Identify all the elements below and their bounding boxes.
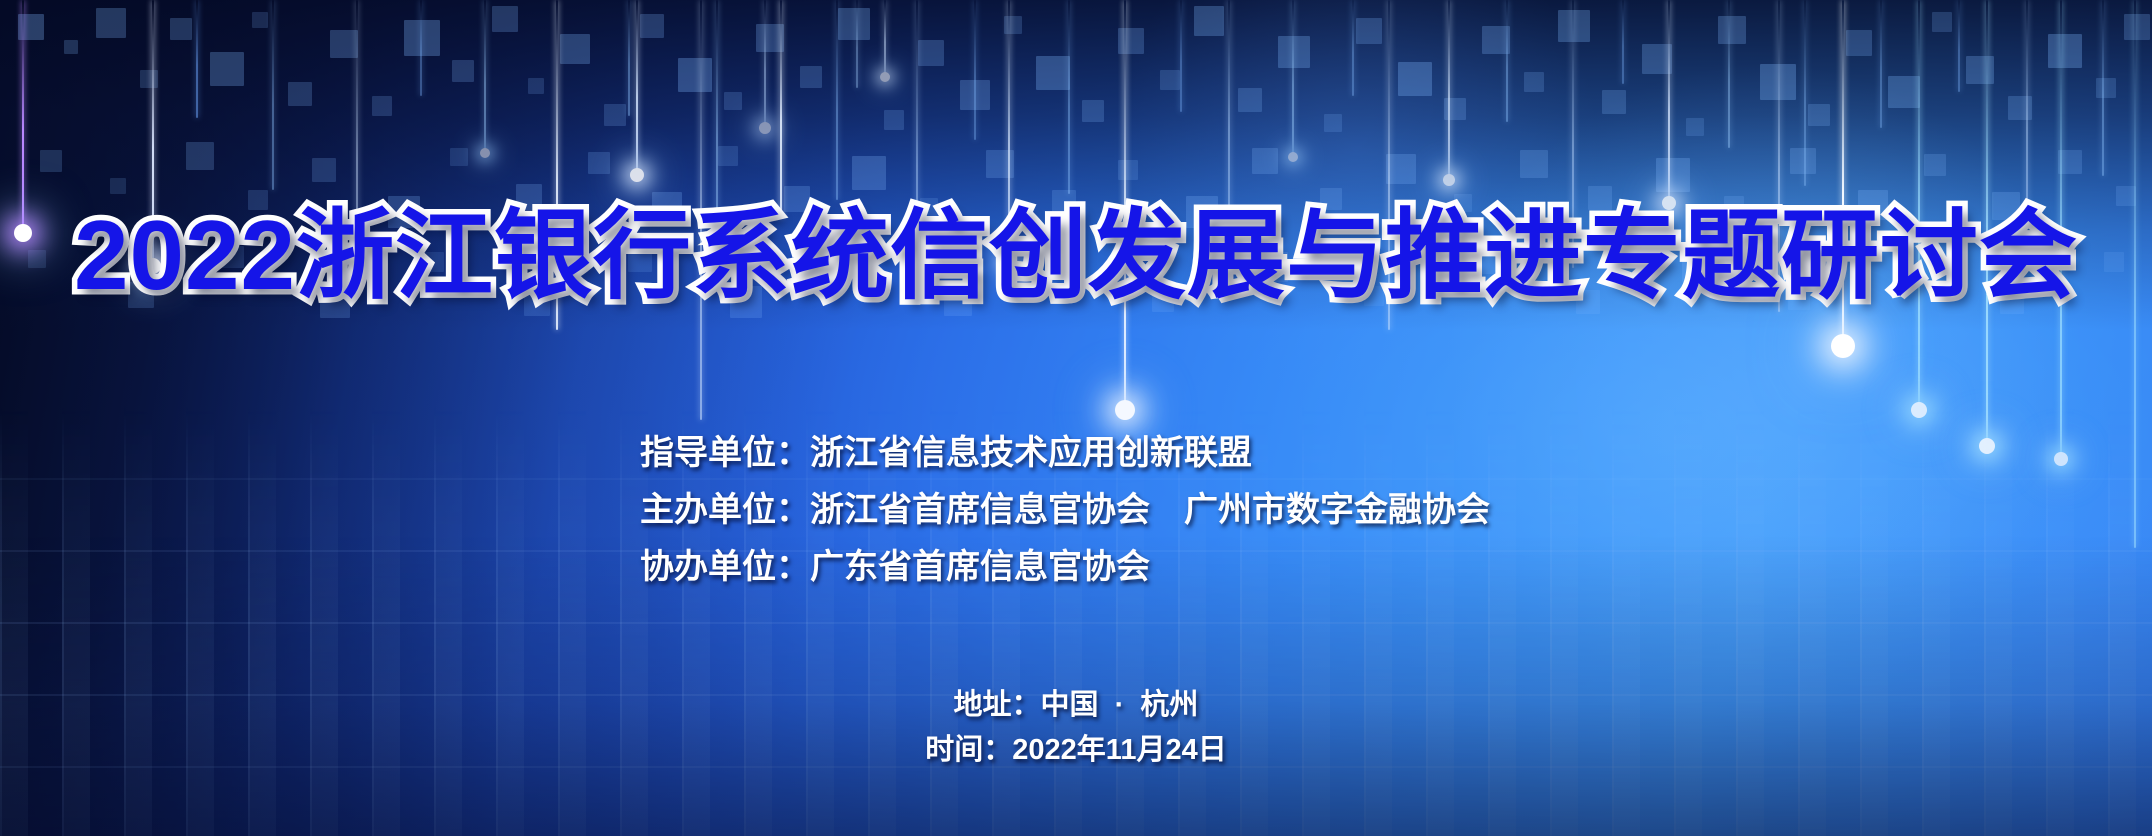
light-streak-line — [856, 0, 858, 88]
light-streak-line — [628, 0, 630, 116]
light-streak-line — [636, 0, 638, 176]
light-streak-line — [1448, 0, 1450, 180]
light-streak-line — [884, 0, 886, 76]
organizer-block: 指导单位：浙江省信息技术应用创新联盟 主办单位：浙江省首席信息官协会 广州市数字… — [640, 425, 1490, 596]
light-streak — [2026, 0, 2028, 234]
banner-title: 2022浙江银行系统信创发展与推进专题研讨会 — [0, 206, 2152, 304]
light-streak — [1292, 0, 1294, 156]
light-streak — [636, 0, 638, 176]
light-streak — [1228, 0, 1230, 232]
light-streak-bulb — [1443, 174, 1455, 186]
event-date: 时间：2022年11月24日 — [0, 728, 2152, 773]
light-streak-bulb — [1831, 334, 1855, 358]
light-streak — [1622, 0, 1624, 84]
light-streak — [1352, 0, 1354, 96]
light-streak — [628, 0, 630, 116]
light-streak-line — [780, 0, 782, 218]
light-streak-line — [1228, 0, 1230, 232]
light-streak — [272, 0, 274, 190]
light-streak-line — [1958, 0, 1960, 92]
light-streak-line — [420, 0, 422, 96]
light-streak-line — [1506, 0, 1508, 122]
light-streak-line — [764, 0, 766, 128]
light-streak — [1728, 0, 1730, 148]
light-streak-line — [2026, 0, 2028, 234]
light-streak — [2102, 0, 2104, 176]
light-streak-bulb — [880, 72, 890, 82]
light-streak — [780, 0, 782, 218]
conference-banner: 2022浙江银行系统信创发展与推进专题研讨会 指导单位：浙江省信息技术应用创新联… — [0, 0, 2152, 836]
light-streak — [1880, 0, 1882, 128]
light-streak — [856, 0, 858, 88]
light-streak-line — [2102, 0, 2104, 176]
light-streak-line — [836, 0, 838, 200]
light-streak — [1068, 0, 1070, 194]
light-streak-line — [1352, 0, 1354, 96]
light-streak — [1958, 0, 1960, 92]
organizer-line-cohost: 协办单位：广东省首席信息官协会 — [640, 539, 1490, 596]
light-streak — [420, 0, 422, 96]
light-streak — [1180, 0, 1182, 112]
light-streak-line — [1668, 0, 1670, 204]
light-streak-bulb — [1115, 400, 1135, 420]
light-streak — [1506, 0, 1508, 122]
light-streak — [196, 0, 198, 118]
light-streak-line — [484, 0, 486, 152]
light-streak — [1804, 0, 1806, 186]
light-streak-bulb — [759, 122, 771, 134]
light-streak-bulb — [1911, 402, 1927, 418]
light-streak — [22, 0, 24, 236]
light-streak-bulb — [1979, 438, 1995, 454]
light-streak — [1668, 0, 1670, 204]
organizer-line-host: 主办单位：浙江省首席信息官协会 广州市数字金融协会 — [640, 482, 1490, 539]
light-streak-line — [1880, 0, 1882, 128]
light-streak — [974, 0, 976, 140]
event-info-block: 地址：中国 · 杭州 时间：2022年11月24日 — [0, 683, 2152, 773]
light-streak-bulb — [1288, 152, 1298, 162]
light-streak-bulb — [480, 148, 490, 158]
light-streak-line — [1068, 0, 1070, 194]
light-streak-line — [1292, 0, 1294, 156]
light-streak-line — [1180, 0, 1182, 112]
light-streak-line — [1804, 0, 1806, 186]
organizer-line-guidance: 指导单位：浙江省信息技术应用创新联盟 — [640, 425, 1490, 482]
light-streak-line — [1728, 0, 1730, 148]
light-streak — [836, 0, 838, 200]
light-streak — [484, 0, 486, 152]
light-streak-line — [22, 0, 24, 236]
light-streak-line — [974, 0, 976, 140]
light-streak-line — [196, 0, 198, 118]
light-streak-bulb — [2054, 452, 2068, 466]
light-streak — [884, 0, 886, 76]
light-streak — [764, 0, 766, 128]
light-streak-line — [272, 0, 274, 190]
light-streak — [1448, 0, 1450, 180]
light-streak-line — [1622, 0, 1624, 84]
event-address: 地址：中国 · 杭州 — [0, 683, 2152, 728]
light-streak-bulb — [630, 168, 644, 182]
